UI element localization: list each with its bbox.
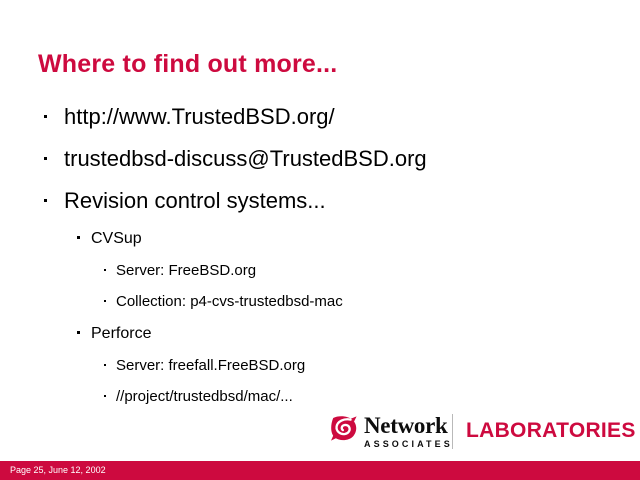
bullet-dot-icon bbox=[104, 364, 106, 366]
bullet-dot-icon bbox=[77, 331, 80, 334]
list-item-label: trustedbsd-discuss@TrustedBSD.org bbox=[64, 138, 427, 180]
list-item: http://www.TrustedBSD.org/ bbox=[0, 96, 640, 138]
list-item-label: CVSup bbox=[91, 222, 142, 255]
logo-wordmark: Network ASSOCIATES bbox=[364, 414, 453, 450]
list-item: Perforce bbox=[0, 317, 640, 350]
list-item: Revision control systems... bbox=[0, 180, 640, 222]
list-item-label: Collection: p4-cvs-trustedbsd-mac bbox=[116, 286, 343, 317]
list-item: Server: freefall.FreeBSD.org bbox=[0, 350, 640, 381]
list-item-label: Server: FreeBSD.org bbox=[116, 255, 256, 286]
bullet-dot-icon bbox=[44, 157, 47, 160]
logo-division-name: LABORATORIES bbox=[466, 419, 636, 443]
list-item-label: Perforce bbox=[91, 317, 151, 350]
slide: Where to find out more... http://www.Tru… bbox=[0, 0, 640, 480]
bullet-dot-icon bbox=[44, 199, 47, 202]
list-item: //project/trustedbsd/mac/... bbox=[0, 381, 640, 412]
list-item: Collection: p4-cvs-trustedbsd-mac bbox=[0, 286, 640, 317]
list-item: CVSup bbox=[0, 222, 640, 255]
logo-company-subname: ASSOCIATES bbox=[364, 438, 453, 450]
list-item-label: http://www.TrustedBSD.org/ bbox=[64, 96, 335, 138]
footer-page-info: Page 25, June 12, 2002 bbox=[10, 462, 106, 479]
list-item: Server: FreeBSD.org bbox=[0, 255, 640, 286]
network-associates-swirl-icon bbox=[330, 416, 358, 441]
bullet-dot-icon bbox=[104, 300, 106, 302]
bullet-dot-icon bbox=[104, 269, 106, 271]
bullet-dot-icon bbox=[77, 236, 80, 239]
list-item-label: Revision control systems... bbox=[64, 180, 326, 222]
list-item-label: //project/trustedbsd/mac/... bbox=[116, 381, 293, 412]
logo-company-name: Network bbox=[364, 414, 453, 437]
list-item-label: Server: freefall.FreeBSD.org bbox=[116, 350, 305, 381]
bullet-dot-icon bbox=[44, 115, 47, 118]
logo-divider bbox=[452, 414, 453, 449]
network-associates-laboratories-logo: Network ASSOCIATES LABORATORIES bbox=[330, 414, 616, 450]
bullet-dot-icon bbox=[104, 395, 106, 397]
page-title: Where to find out more... bbox=[38, 50, 337, 79]
bullet-list: http://www.TrustedBSD.org/ trustedbsd-di… bbox=[0, 96, 640, 412]
list-item: trustedbsd-discuss@TrustedBSD.org bbox=[0, 138, 640, 180]
